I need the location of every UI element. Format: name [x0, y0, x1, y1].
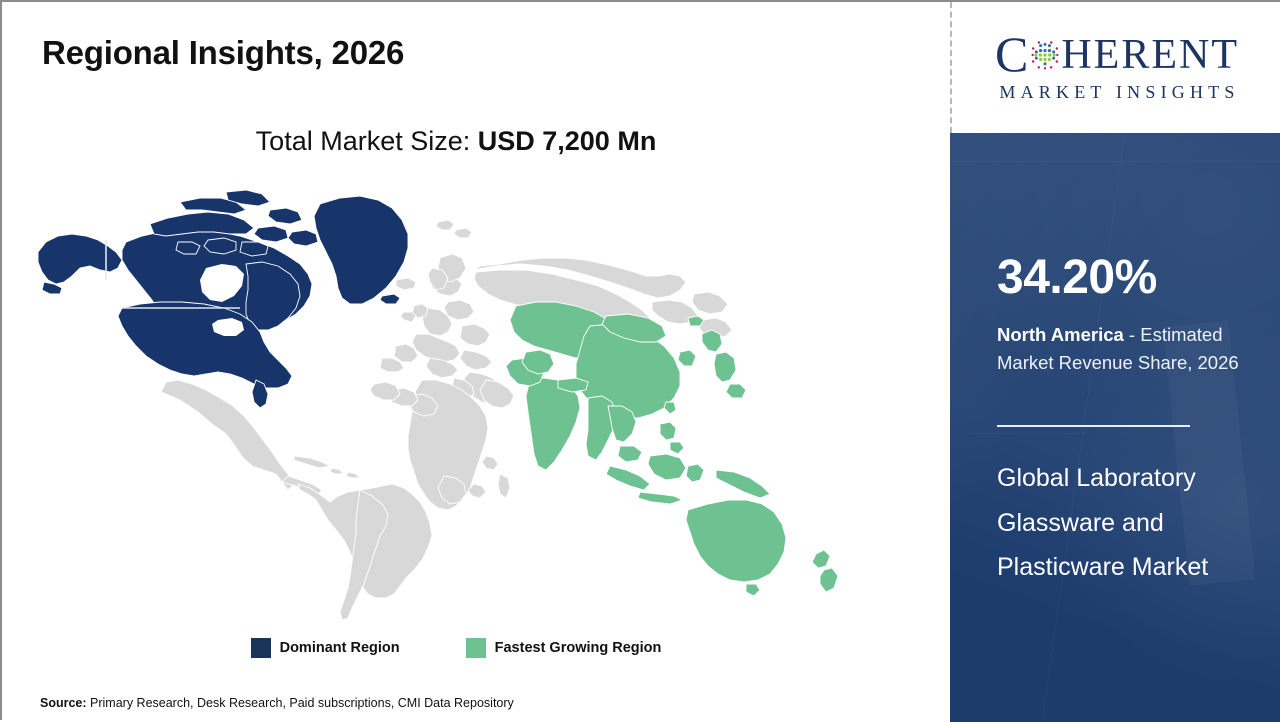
left-content-panel: Regional Insights, 2026 Total Market Siz…	[2, 2, 950, 722]
stat-percentage: 34.20%	[997, 254, 1157, 302]
legend-item-fastest: Fastest Growing Region	[466, 638, 662, 658]
logo-wordmark: C	[995, 32, 1239, 77]
brand-logo[interactable]: C	[952, 2, 1280, 133]
report-title: Global Laboratory Glassware and Plasticw…	[997, 456, 1269, 590]
map-fastest-growing-region[interactable]	[506, 302, 838, 596]
total-market-size-label: Total Market Size:	[256, 126, 478, 156]
logo-letter-c: C	[995, 32, 1030, 77]
panel-texture-streak-4	[967, 433, 1087, 434]
logo-word-suffix: HERENT	[1061, 34, 1239, 76]
legend-item-dominant: Dominant Region	[251, 638, 400, 658]
legend-label-fastest: Fastest Growing Region	[495, 640, 662, 656]
logo-subtitle: MARKET INSIGHTS	[994, 82, 1239, 103]
world-map-svg	[30, 184, 860, 624]
panel-texture-streak-2	[950, 161, 1280, 162]
stat-panel: 34.20% North America - Estimated Market …	[950, 133, 1280, 722]
page-title: Regional Insights, 2026	[42, 34, 404, 72]
map-legend: Dominant Region Fastest Growing Region	[2, 638, 910, 658]
total-market-size-value: USD 7,200 Mn	[478, 126, 657, 156]
infographic-frame: Regional Insights, 2026 Total Market Siz…	[0, 0, 1280, 720]
source-note: Source: Primary Research, Desk Research,…	[40, 696, 514, 710]
map-dominant-region[interactable]	[38, 190, 408, 408]
source-label: Source:	[40, 696, 87, 710]
panel-texture-streak-1	[1042, 136, 1125, 719]
square-swatch-navy-icon	[251, 638, 271, 658]
legend-label-dominant: Dominant Region	[280, 640, 400, 656]
total-market-size: Total Market Size: USD 7,200 Mn	[2, 126, 910, 157]
world-map[interactable]	[30, 184, 860, 624]
stat-divider-rule	[997, 425, 1190, 427]
square-swatch-green-icon	[466, 638, 486, 658]
source-text: Primary Research, Desk Research, Paid su…	[87, 696, 514, 710]
stat-description: North America - Estimated Market Revenue…	[997, 321, 1265, 377]
stat-region-name: North America	[997, 324, 1124, 345]
dotted-globe-icon	[1030, 40, 1060, 70]
